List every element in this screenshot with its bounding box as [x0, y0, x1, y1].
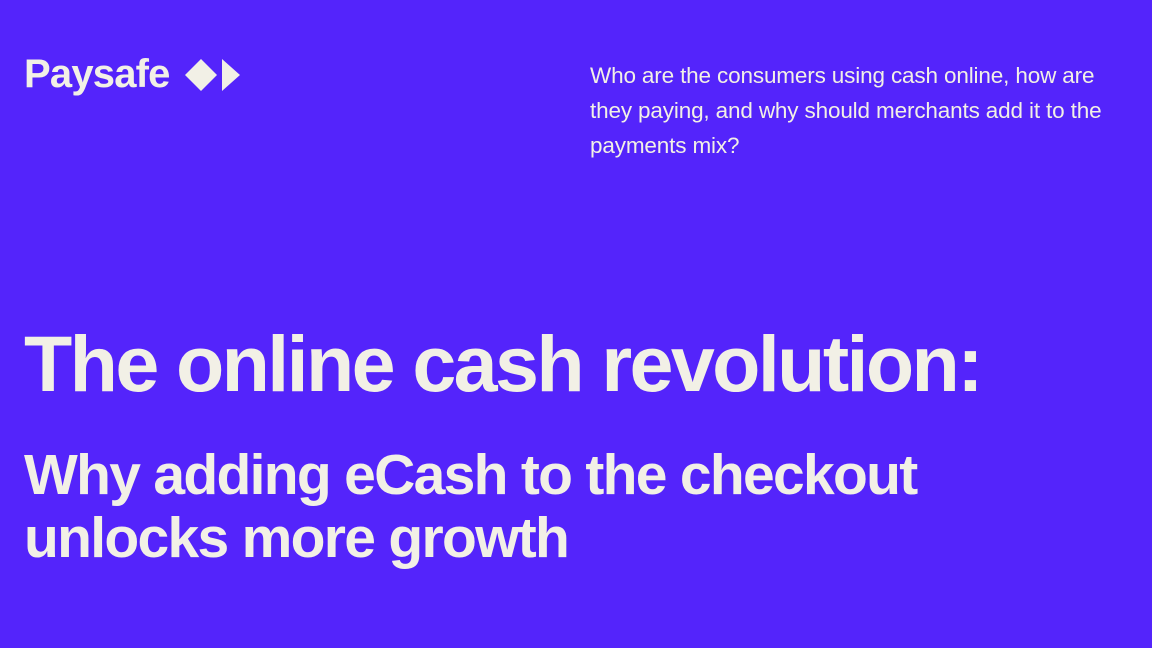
page-title: The online cash revolution:: [24, 318, 1134, 410]
page-subtitle-line-1: Why adding eCash to the checkout: [24, 444, 1074, 507]
diamond-arrow-mark-icon: [184, 58, 242, 92]
page-subtitle: Why adding eCash to the checkout unlocks…: [24, 410, 1074, 570]
title-block: The online cash revolution: Why adding e…: [24, 318, 1134, 570]
intro-question: Who are the consumers using cash online,…: [590, 58, 1130, 163]
title-slide: Paysafe Who are the consumers using cash…: [0, 0, 1152, 648]
paysafe-logo[interactable]: Paysafe: [24, 50, 242, 98]
slide-header: Paysafe Who are the consumers using cash…: [0, 0, 1152, 180]
page-subtitle-line-2: unlocks more growth: [24, 507, 1074, 570]
brand-wordmark: Paysafe: [24, 54, 170, 94]
intro-question-line-1: Who are the consumers using cash online,: [590, 63, 1009, 88]
